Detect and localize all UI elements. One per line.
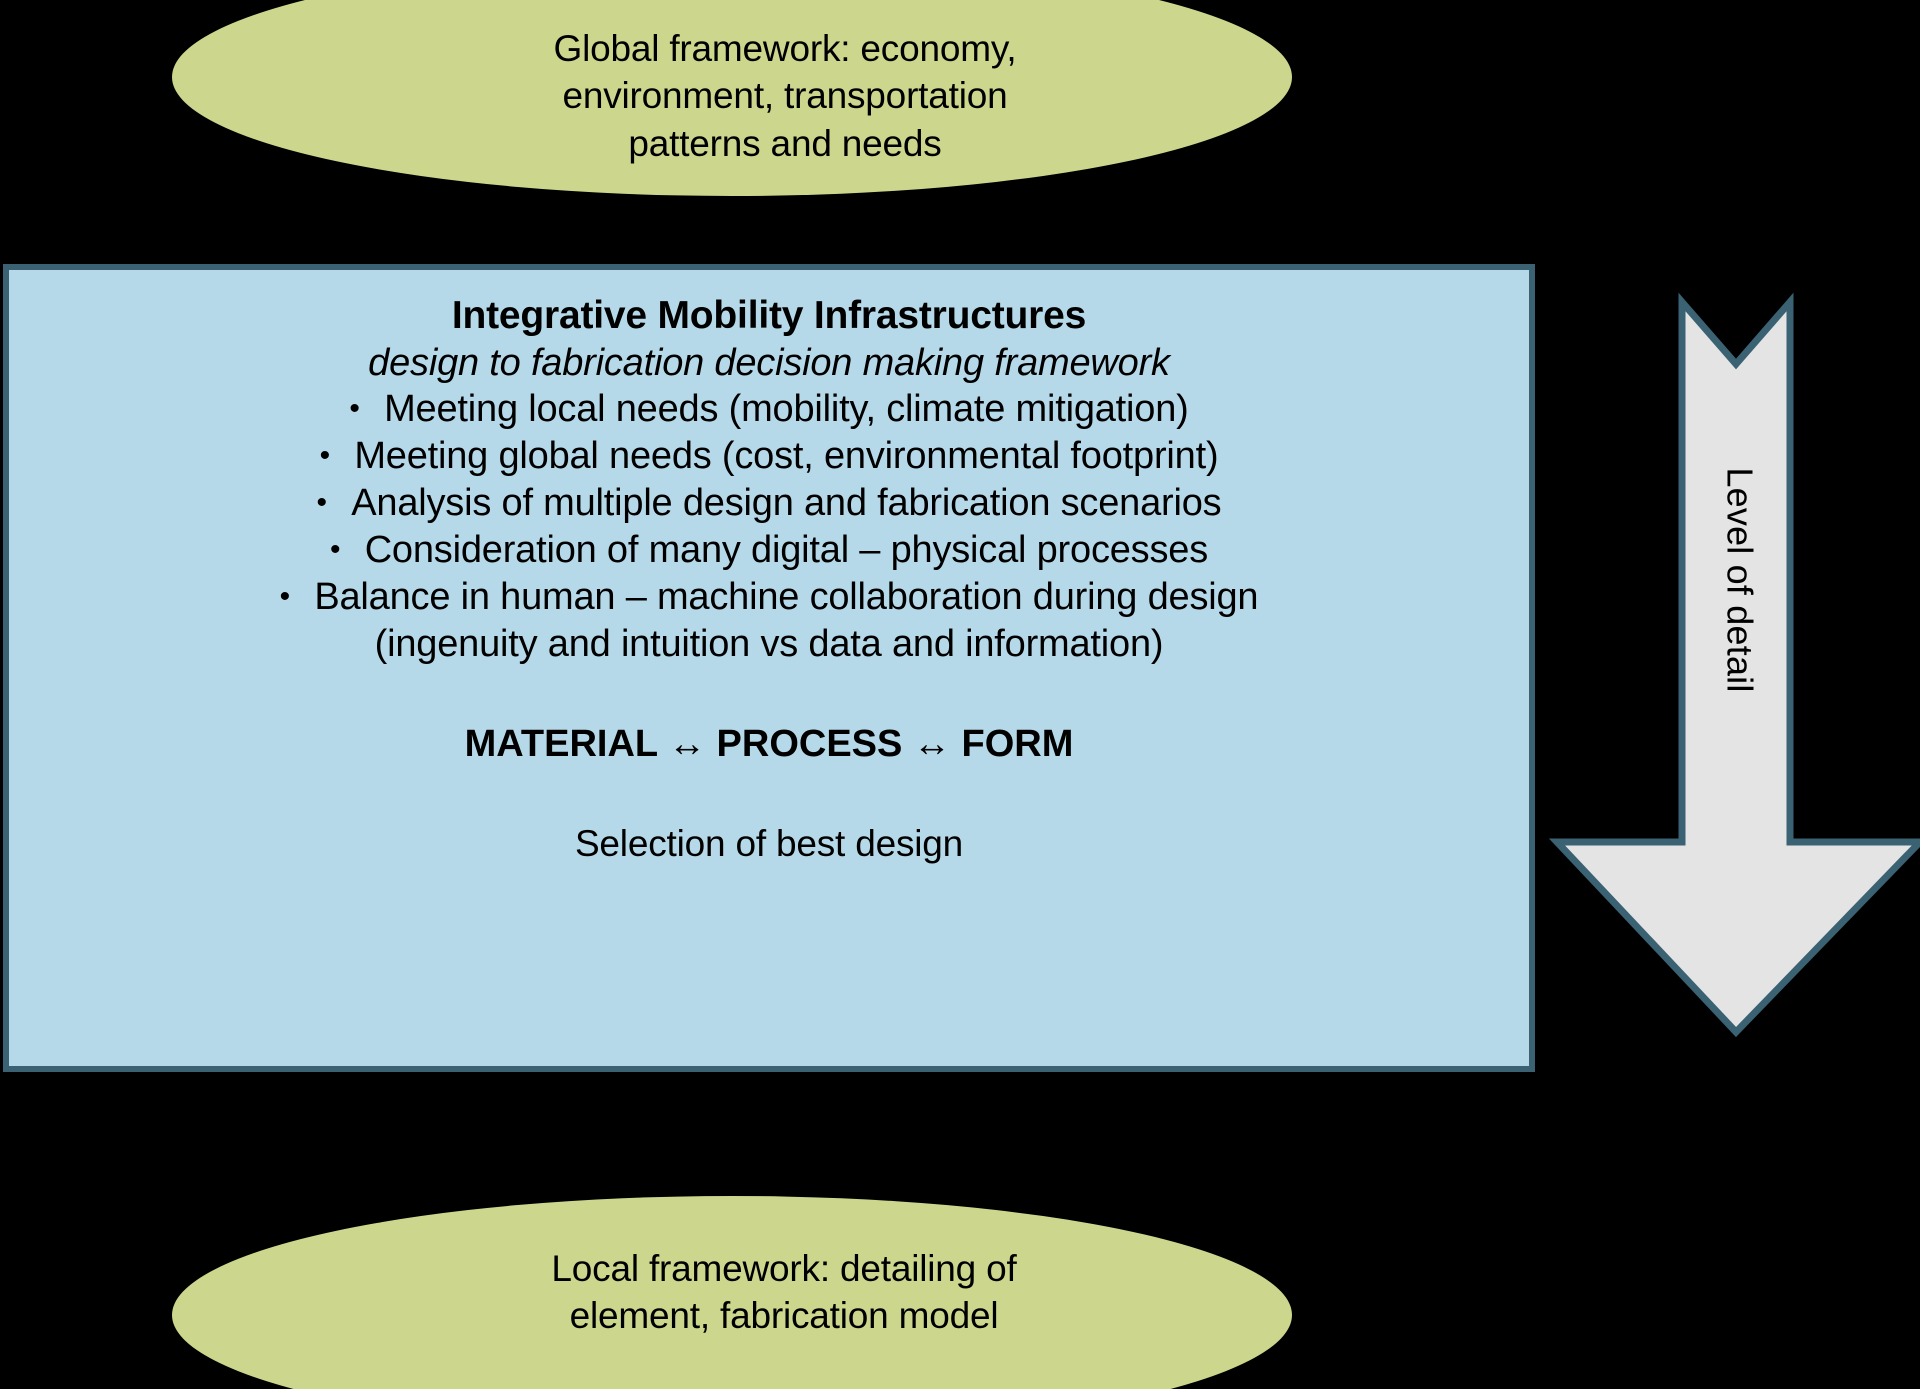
local-framework-text: Local framework: detailing of element, f… (447, 1245, 1016, 1386)
bullet-continuation-text: (ingenuity and intuition vs data and inf… (9, 621, 1529, 668)
bullet-icon: • (280, 580, 315, 613)
down-arrow-icon (1553, 302, 1920, 1037)
global-framework-text: Global framework: economy, environment, … (448, 0, 1017, 167)
list-item: • Meeting local needs (mobility, climate… (9, 386, 1529, 433)
bullet-icon: • (320, 439, 355, 472)
list-item-label: Meeting local needs (mobility, climate m… (384, 388, 1189, 430)
box-content: Integrative Mobility Infrastructures des… (9, 292, 1529, 865)
list-item-label: Balance in human – machine collaboration… (314, 576, 1258, 618)
list-item-label: Analysis of multiple design and fabricat… (351, 482, 1221, 524)
list-item: • Meeting global needs (cost, environmen… (9, 433, 1529, 480)
list-item: • Analysis of multiple design and fabric… (9, 480, 1529, 527)
level-of-detail-arrow (1553, 302, 1920, 1037)
integrative-mobility-infrastructures-box: Integrative Mobility Infrastructures des… (3, 264, 1535, 1072)
list-item-label: Meeting global needs (cost, environmenta… (354, 435, 1218, 477)
bullet-icon: • (349, 392, 384, 425)
list-item: • Consideration of many digital – physic… (9, 527, 1529, 574)
box-subtitle: design to fabrication decision making fr… (9, 340, 1529, 386)
down-arrow-shape (1557, 302, 1920, 1032)
local-framework-ellipse: Local framework: detailing of element, f… (172, 1196, 1292, 1389)
box-title: Integrative Mobility Infrastructures (9, 292, 1529, 340)
selection-of-best-design-text: Selection of best design (9, 823, 1529, 865)
list-item: • Balance in human – machine collaborati… (9, 574, 1529, 621)
bullet-icon: • (330, 533, 365, 566)
material-process-form-text: MATERIAL ↔ PROCESS ↔ FORM (9, 723, 1529, 766)
framework-bullet-list: • Meeting local needs (mobility, climate… (9, 386, 1529, 622)
global-framework-ellipse: Global framework: economy, environment, … (172, 0, 1292, 196)
list-item-label: Consideration of many digital – physical… (365, 529, 1208, 571)
diagram-canvas: Global framework: economy, environment, … (0, 0, 1920, 1389)
bullet-icon: • (317, 486, 352, 519)
